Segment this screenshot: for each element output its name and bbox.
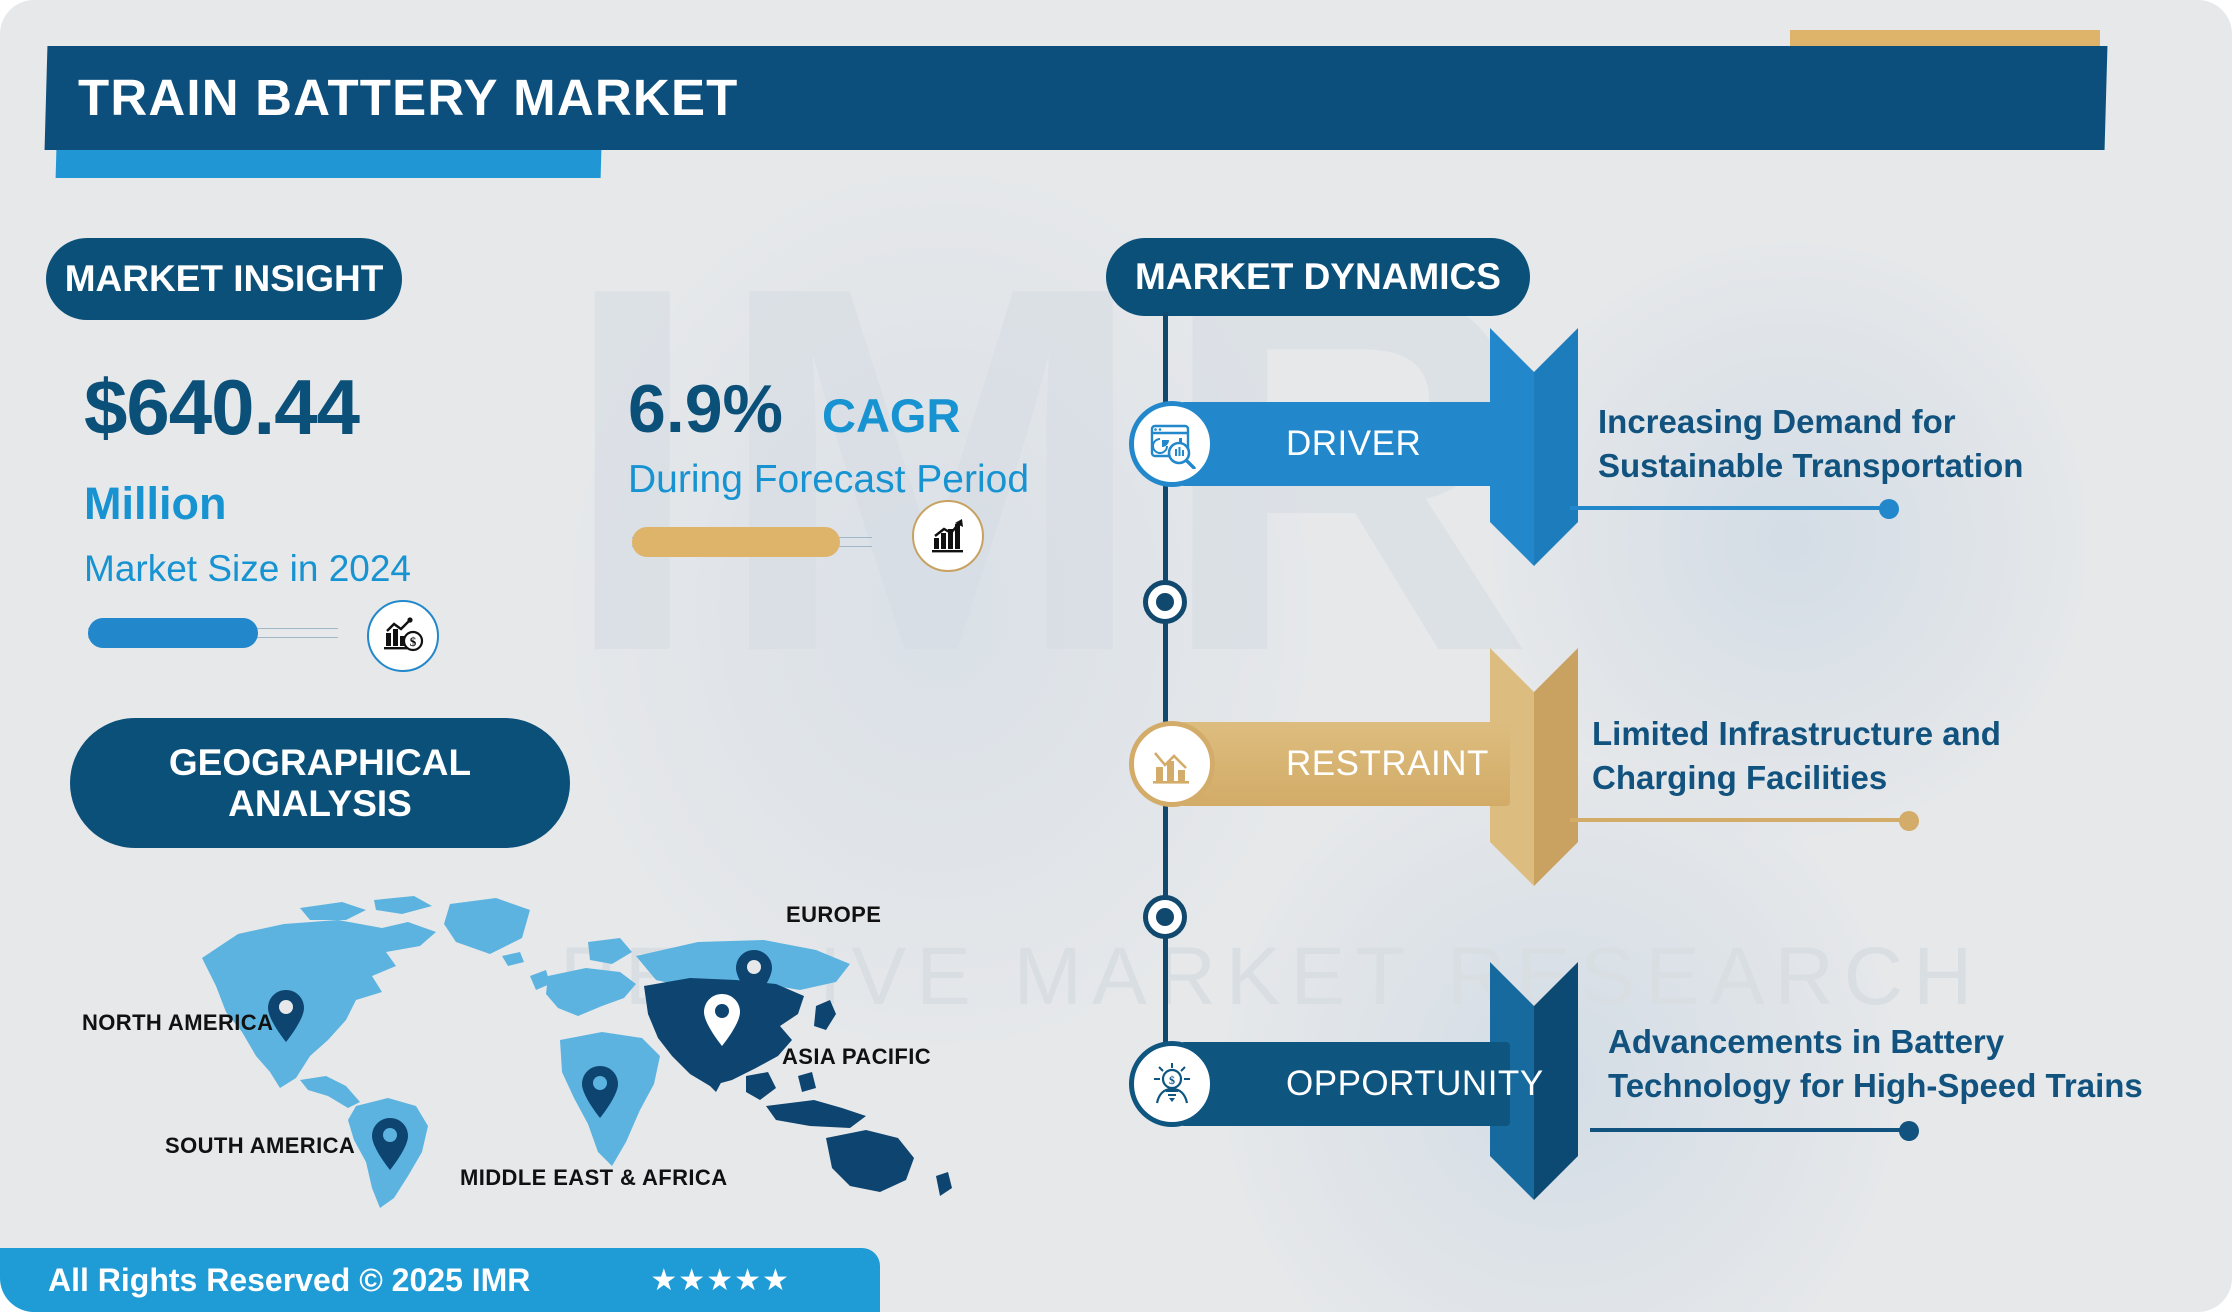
map-label-asia-pacific: ASIA PACIFIC: [782, 1044, 931, 1070]
driver-description-line1: Increasing Demand for: [1598, 400, 2218, 444]
market-dynamics-pill: MARKET DYNAMICS: [1106, 238, 1530, 316]
opportunity-description-line1: Advancements in Battery: [1608, 1020, 2228, 1064]
market-size-value: $640.44: [84, 362, 359, 453]
header-underbar: [56, 150, 602, 178]
restraint-bar[interactable]: RESTRAINT: [1180, 722, 1510, 806]
market-insight-pill: MARKET INSIGHT: [46, 238, 402, 320]
geo-pill-line2: ANALYSIS: [169, 783, 471, 824]
opportunity-underline-dot: [1899, 1121, 1919, 1141]
cagr-value: 6.9%: [628, 370, 783, 448]
driver-label: DRIVER: [1286, 424, 1421, 464]
growth-chart-arrow-icon: [912, 500, 984, 572]
opportunity-description-line2: Technology for High-Speed Trains: [1608, 1064, 2228, 1108]
restraint-label: RESTRAINT: [1286, 744, 1489, 784]
dashboard-magnifier-icon: [1129, 401, 1215, 487]
timeline-node: [1143, 580, 1187, 624]
declining-bar-chart-icon: [1129, 721, 1215, 807]
driver-underline-dot: [1879, 499, 1899, 519]
restraint-underline: [1570, 818, 1910, 822]
driver-description-line2: Sustainable Transportation: [1598, 444, 2218, 488]
geographical-analysis-pill: GEOGRAPHICAL ANALYSIS: [70, 718, 570, 848]
cagr-caption: During Forecast Period: [628, 458, 1029, 502]
svg-text:$: $: [410, 634, 417, 649]
opportunity-bar[interactable]: OPPORTUNITY: [1180, 1042, 1510, 1126]
map-label-europe: EUROPE: [786, 902, 881, 928]
opportunity-description: Advancements in Battery Technology for H…: [1608, 1020, 2228, 1108]
map-label-south-america: SOUTH AMERICA: [165, 1133, 355, 1159]
restraint-description-line1: Limited Infrastructure and: [1592, 712, 2212, 756]
restraint-description: Limited Infrastructure and Charging Faci…: [1592, 712, 2212, 800]
footer-copyright: All Rights Reserved © 2025 IMR: [48, 1262, 530, 1299]
lightbulb-dollar-icon: $: [1129, 1041, 1215, 1127]
cagr-progress-fill: [632, 527, 840, 557]
market-size-unit: Million: [84, 478, 226, 530]
cagr-word: CAGR: [822, 388, 960, 443]
opportunity-label: OPPORTUNITY: [1286, 1064, 1544, 1104]
map-label-middle-east-africa: MIDDLE EAST & AFRICA: [460, 1165, 728, 1191]
infographic-canvas: IMR PECTIVE MARKET RESEARCH TRAIN BATTER…: [0, 0, 2232, 1312]
restraint-underline-dot: [1899, 811, 1919, 831]
driver-bar[interactable]: DRIVER: [1180, 402, 1510, 486]
bar-chart-dollar-icon: $: [367, 600, 439, 672]
rating-stars-icon: ★★★★★: [650, 1263, 789, 1298]
page-title: TRAIN BATTERY MARKET: [78, 68, 739, 127]
geo-pill-line1: GEOGRAPHICAL: [169, 742, 471, 783]
market-size-progress-fill: [88, 618, 258, 648]
driver-underline: [1570, 506, 1890, 510]
opportunity-underline: [1590, 1128, 1910, 1132]
map-label-north-america: NORTH AMERICA: [82, 1010, 273, 1036]
svg-text:$: $: [1169, 1073, 1175, 1087]
restraint-description-line2: Charging Facilities: [1592, 756, 2212, 800]
market-size-caption: Market Size in 2024: [84, 548, 411, 590]
timeline-node: [1143, 895, 1187, 939]
footer-bar: All Rights Reserved © 2025 IMR ★★★★★: [0, 1248, 880, 1312]
driver-description: Increasing Demand for Sustainable Transp…: [1598, 400, 2218, 488]
